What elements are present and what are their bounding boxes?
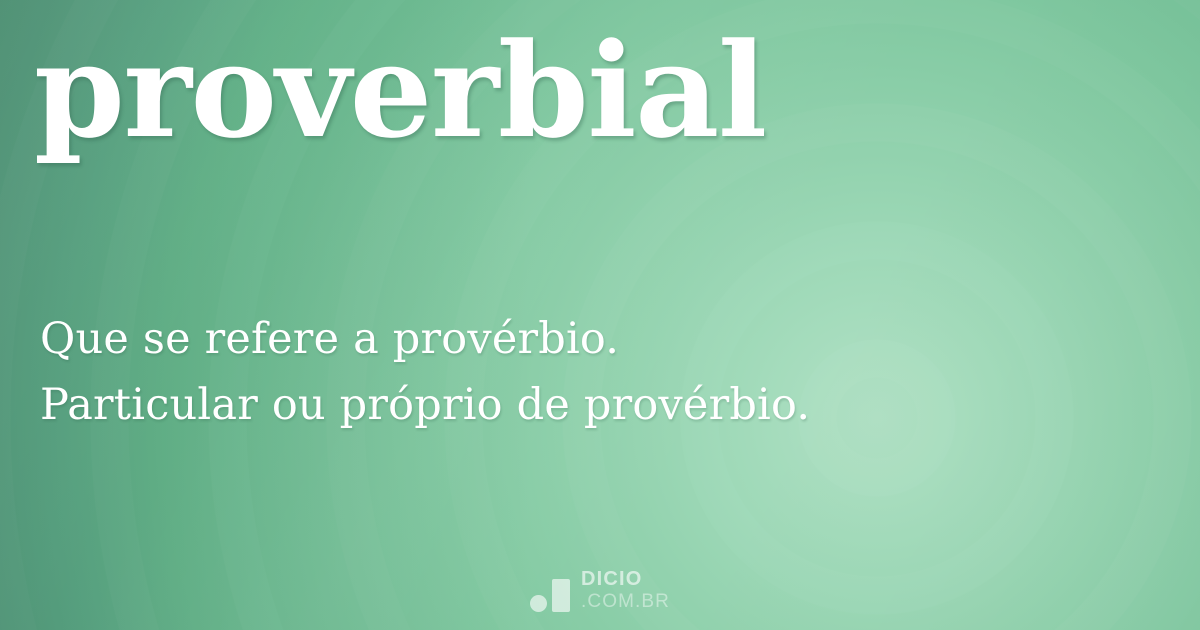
logo-domain-suffix: .COM.BR: [581, 592, 670, 611]
dictionary-share-card: proverbial Que se refere a provérbio. Pa…: [0, 0, 1200, 630]
bar-mark-icon: [552, 579, 570, 612]
circle-mark-icon: [530, 595, 547, 612]
logo-brand-name: DICIO: [581, 569, 670, 589]
dicio-logo-text: DICIO .COM.BR: [581, 569, 670, 612]
card-content: proverbial Que se refere a provérbio. Pa…: [0, 0, 1200, 630]
dicio-logo-mark: [530, 578, 570, 612]
headword-title: proverbial: [34, 22, 766, 160]
definition-list: Que se refere a provérbio. Particular ou…: [40, 306, 1070, 438]
definition-line: Particular ou próprio de provérbio.: [40, 372, 1070, 438]
dicio-logo: DICIO .COM.BR: [0, 569, 1200, 612]
definition-line: Que se refere a provérbio.: [40, 306, 1070, 372]
